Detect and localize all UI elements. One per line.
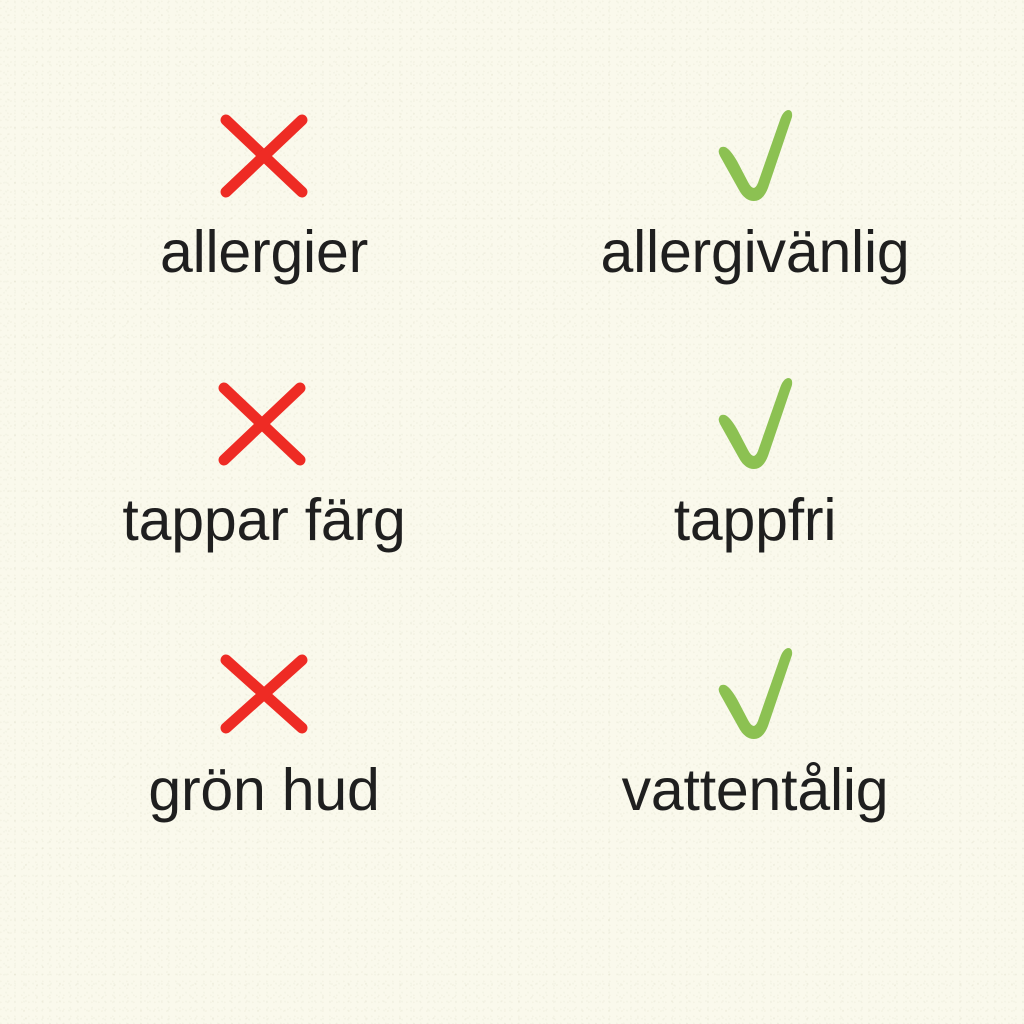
- comparison-grid: allergier allergivänlig tappar färg: [0, 0, 1024, 1024]
- comparison-item-negative-3: grön hud: [14, 642, 514, 821]
- comparison-label: tappar färg: [122, 490, 405, 551]
- comparison-graphic: allergier allergivänlig tappar färg: [0, 0, 1024, 1024]
- comparison-item-positive-3: vattentålig: [505, 642, 1005, 821]
- check-icon: [694, 642, 816, 746]
- cross-icon: [203, 372, 325, 476]
- comparison-item-negative-1: allergier: [14, 104, 514, 283]
- cross-icon: [203, 104, 325, 208]
- comparison-label: grön hud: [148, 760, 379, 821]
- check-icon: [694, 104, 816, 208]
- comparison-label: tappfri: [674, 490, 837, 551]
- comparison-item-positive-1: allergivänlig: [505, 104, 1005, 283]
- cross-icon: [203, 642, 325, 746]
- comparison-label: vattentålig: [622, 760, 889, 821]
- comparison-item-positive-2: tappfri: [505, 372, 1005, 551]
- comparison-item-negative-2: tappar färg: [14, 372, 514, 551]
- check-icon: [694, 372, 816, 476]
- comparison-label: allergier: [160, 222, 368, 283]
- comparison-label: allergivänlig: [601, 222, 910, 283]
